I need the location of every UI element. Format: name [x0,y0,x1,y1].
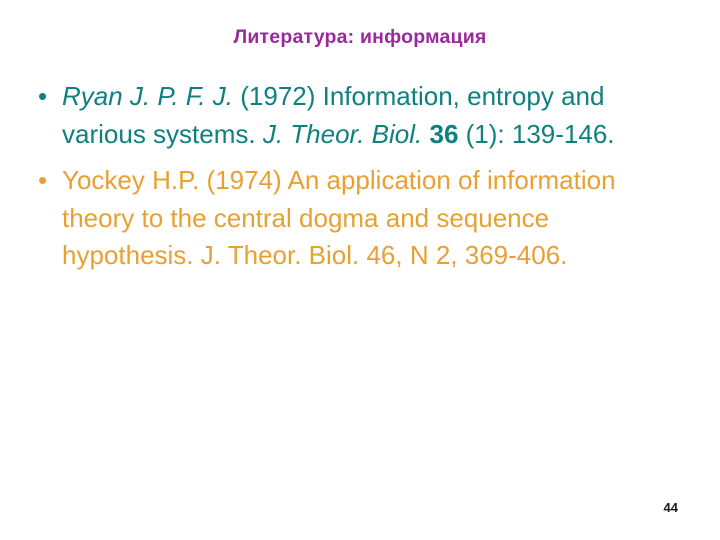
reference-volume: 36 [430,119,459,149]
reference-text: Ryan J. P. F. J. (1972) Information, ent… [62,78,670,153]
reference-full-citation: Yockey H.P. (1974) An application of inf… [62,165,616,270]
bullet-icon: • [38,78,47,116]
list-item: • Ryan J. P. F. J. (1972) Information, e… [30,78,670,153]
list-item: • Yockey H.P. (1974) An application of i… [30,162,670,275]
reference-list: • Ryan J. P. F. J. (1972) Information, e… [30,78,670,284]
reference-space [422,119,429,149]
bullet-icon: • [38,162,47,200]
page-number: 44 [664,501,678,514]
page-title: Литература: информация [0,26,720,48]
presentation-slide: Литература: информация • Ryan J. P. F. J… [0,0,720,540]
reference-authors: Ryan J. P. F. J. [62,81,233,111]
reference-journal: J. Theor. Biol. [263,119,422,149]
reference-text: Yockey H.P. (1974) An application of inf… [62,162,670,275]
reference-pages: (1): 139-146. [458,119,614,149]
